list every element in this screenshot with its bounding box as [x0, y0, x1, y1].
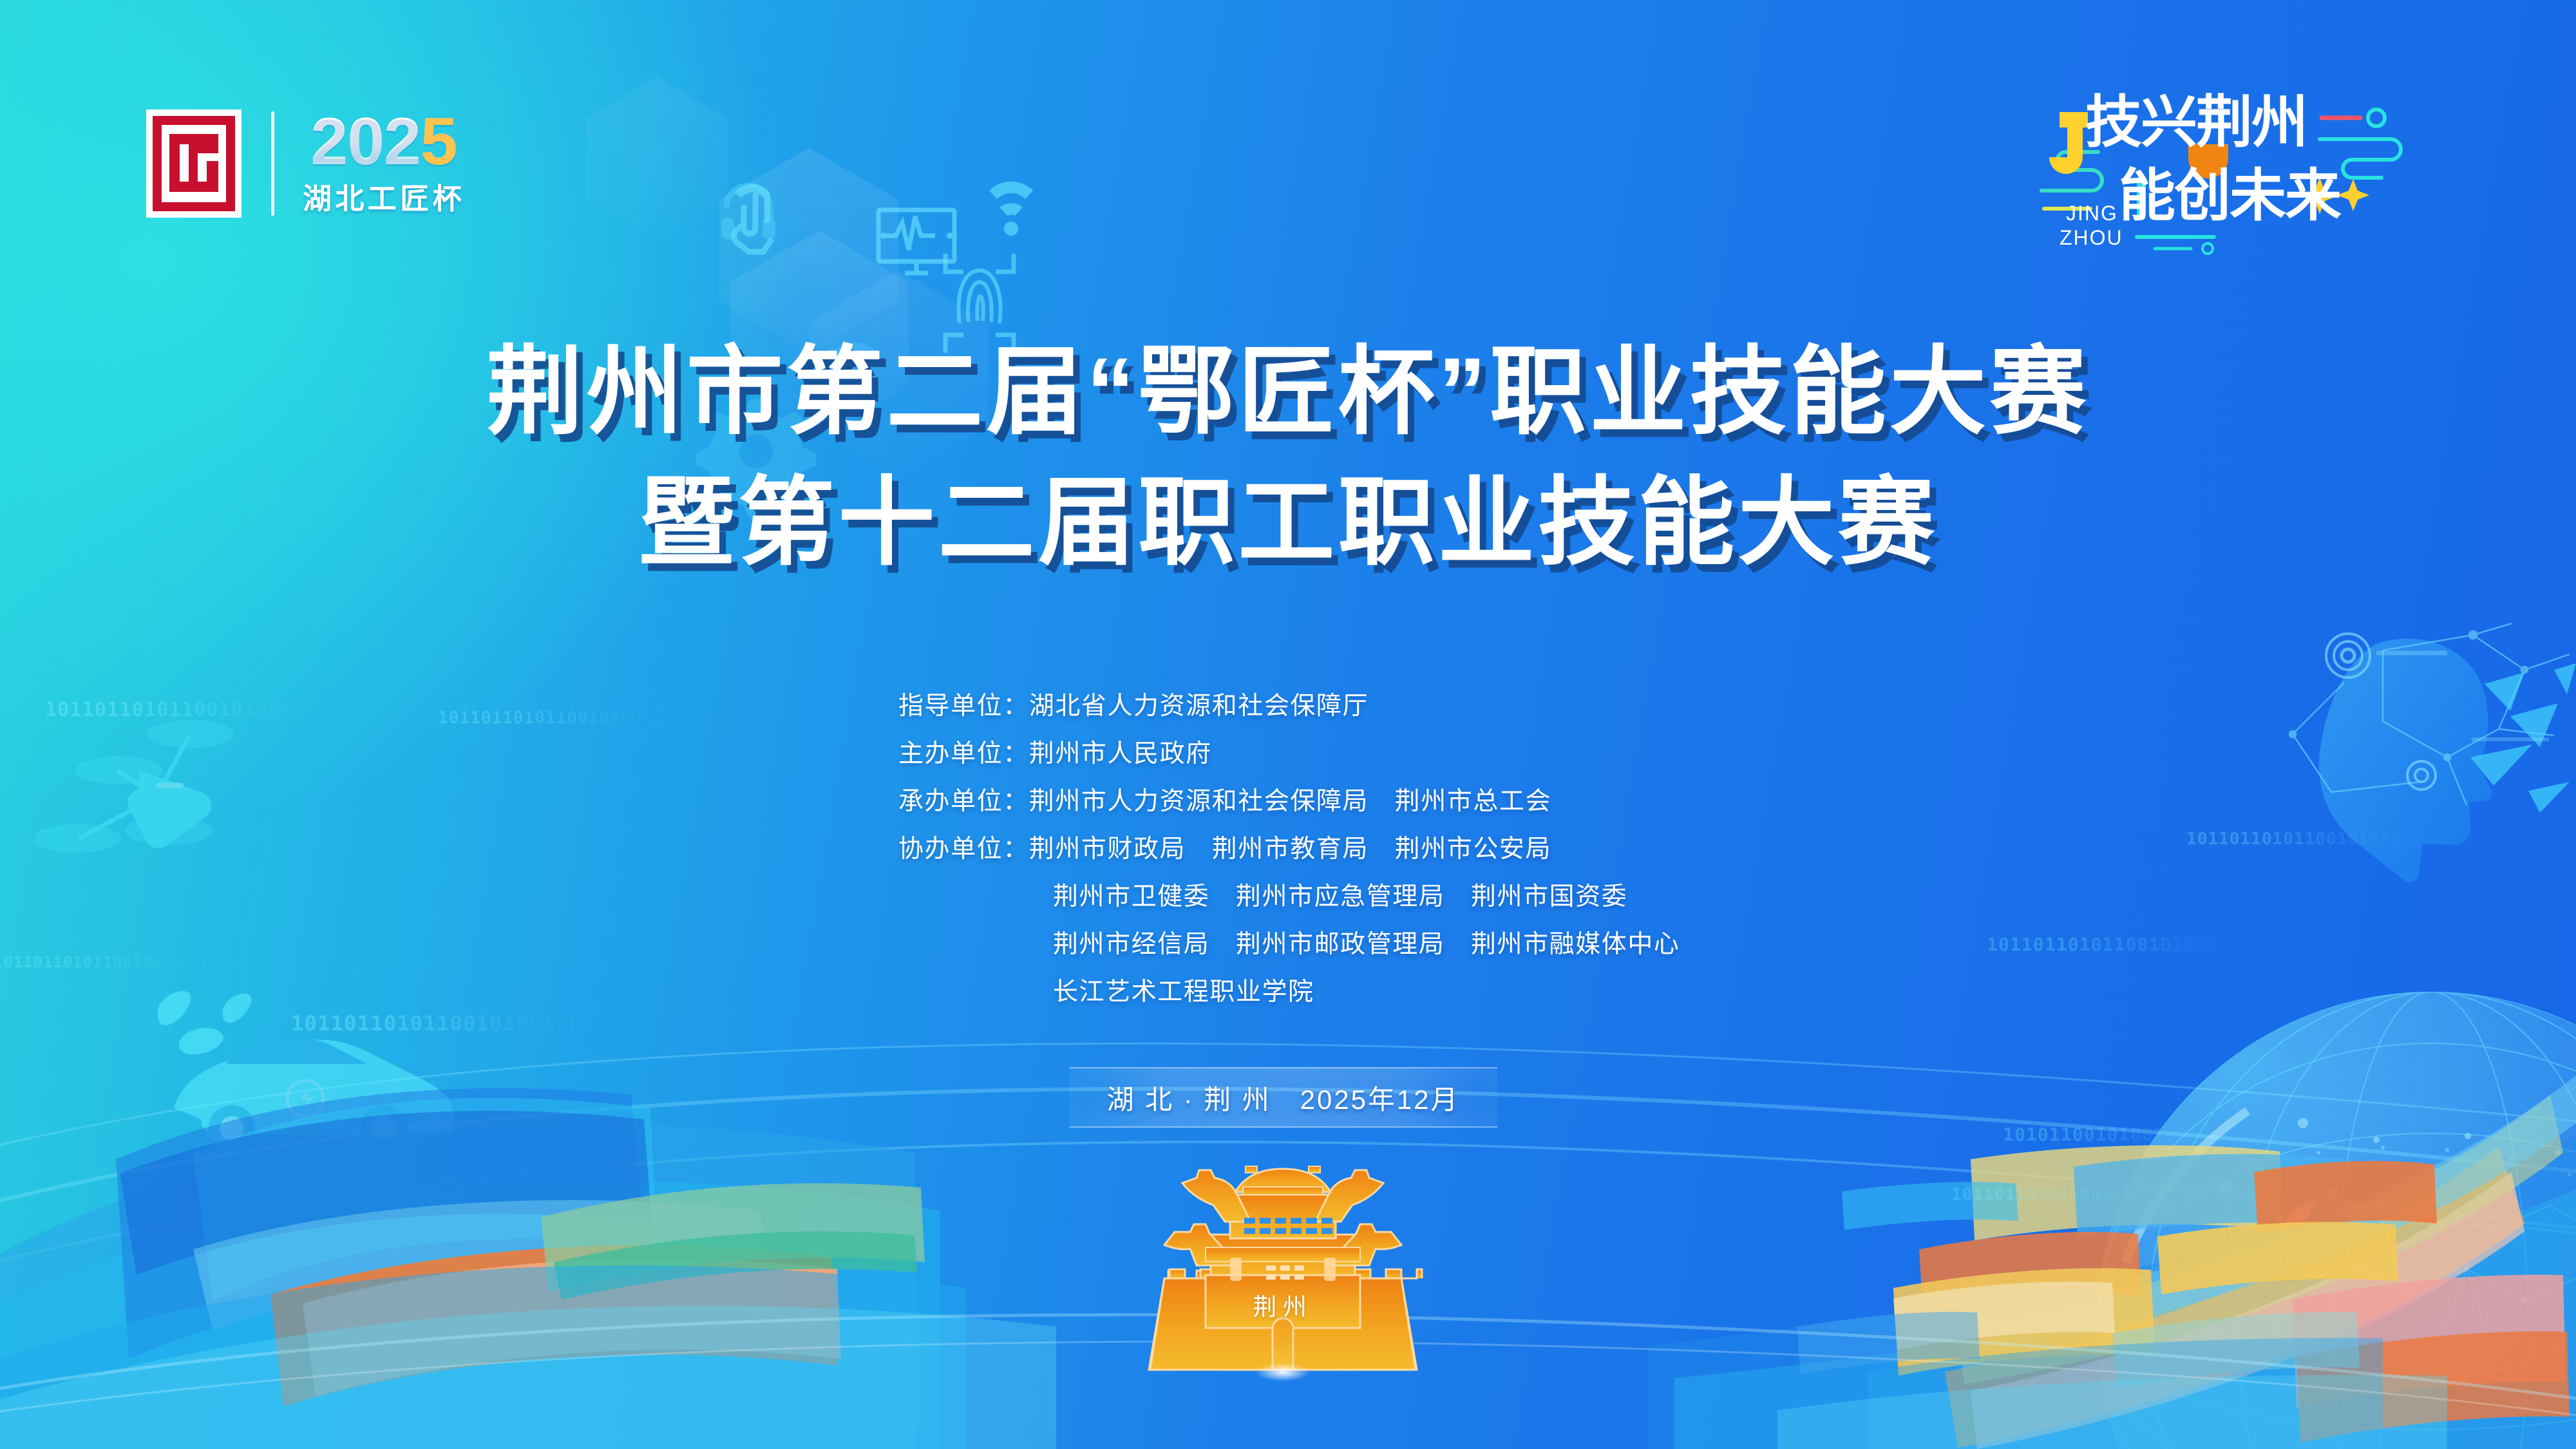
organizer-units: 荆州市人民政府: [1029, 740, 1212, 768]
tech-icon-touch-gesture: [734, 188, 772, 252]
title-block: 荆州市第二届“鄂匠杯”职业技能大赛 暨第十二届职工职业技能大赛: [0, 335, 2576, 580]
tech-icon-heartbeat-monitor: [878, 210, 954, 273]
slogan-logo-right: 技兴荆州 能创未来 JING ZHOU: [2029, 82, 2518, 256]
binary-text-3: 101101101011001010010001: [0, 953, 232, 971]
leaf-icon: [158, 991, 252, 1054]
slogan-line1: 技兴荆州: [2085, 90, 2307, 154]
organizer-row: 协办单位：荆州市财政局 荆州市教育局 荆州市公安局: [898, 826, 1864, 873]
jingzhou-city-gate-icon: [1122, 1130, 1444, 1388]
tech-icon-wifi: [989, 182, 1033, 236]
date-location-text: 湖 北 · 荆 州 2025年12月: [1107, 1078, 1460, 1117]
organizer-label: 协办单位：: [898, 835, 1029, 863]
date-location-banner: 湖 北 · 荆 州 2025年12月: [1069, 1067, 1497, 1128]
gate-city-label: 荆州: [1122, 1287, 1444, 1322]
organizer-label: 指导单位：: [898, 692, 1029, 720]
organizer-row: 承办单位：荆州市人力资源和社会保障局 荆州市总工会: [898, 778, 1864, 826]
organizer-units: 荆州市经信局 荆州市邮政管理局 荆州市融媒体中心: [1053, 931, 1680, 958]
poster-canvas: 10110110101100101001000 1011011010110010…: [0, 0, 2576, 1449]
organizer-row: 长江艺术工程职业学院: [898, 969, 1864, 1016]
binary-text-7: 101011001010010000: [2003, 1124, 2211, 1145]
organizer-row: 荆州市卫健委 荆州市应急管理局 荆州市国资委: [898, 873, 1864, 921]
organizer-units: 荆州市卫健委 荆州市应急管理局 荆州市国资委: [1053, 883, 1627, 911]
organizer-units: 长江艺术工程职业学院: [1053, 978, 1314, 1006]
logo-year: 2025: [310, 110, 457, 174]
logo-wordmark: 2025 湖北工匠杯: [303, 110, 465, 217]
slogan-line2: 能创未来: [2119, 164, 2342, 227]
particle-dots: [2222, 1118, 2561, 1189]
slogan-pinyin-line1: JING: [2066, 202, 2118, 225]
logo-divider: [271, 111, 274, 216]
organizer-units: 湖北省人力资源和社会保障厅: [1029, 692, 1368, 720]
organizer-row: 主办单位：荆州市人民政府: [898, 730, 1864, 778]
binary-text-4: 10110110101100101001000: [291, 1011, 596, 1036]
organizer-units: 荆州市人力资源和社会保障局 荆州市总工会: [1029, 788, 1551, 815]
binary-text-1: 10110110101100101001000: [45, 699, 330, 721]
binary-text-2: 1011011010110010100100: [438, 708, 674, 728]
organizer-label: 主办单位：: [898, 740, 1029, 768]
organizer-units: 荆州市财政局 荆州市教育局 荆州市公安局: [1029, 835, 1551, 863]
electric-car-icon: [174, 1038, 455, 1151]
logo-cup-name: 湖北工匠杯: [303, 175, 465, 217]
event-logo-left: 2025 湖北工匠杯: [145, 108, 465, 219]
title-line-1: 荆州市第二届“鄂匠杯”职业技能大赛: [0, 335, 2576, 449]
binary-text-5: 1011011010110010100100: [2186, 829, 2423, 849]
title-line-2: 暨第十二届职工职业技能大赛: [0, 466, 2576, 580]
binary-text-6: 10110110101100101001000: [1987, 934, 2253, 955]
organizer-row: 荆州市经信局 荆州市邮政管理局 荆州市融媒体中心: [898, 921, 1864, 969]
bottom-ribbons-left: [0, 1088, 1056, 1449]
tech-icon-headset: [721, 185, 775, 240]
binary-text-8: 1011011010110010100100: [1951, 1185, 2188, 1204]
slogan-pinyin-line2: ZHOU: [2060, 226, 2123, 249]
organizer-row: 指导单位：湖北省人力资源和社会保障厅: [898, 683, 1864, 730]
hubei-craftsman-seal-icon: [145, 108, 243, 219]
drone-icon: [33, 720, 234, 853]
organizer-list: 指导单位：湖北省人力资源和社会保障厅 主办单位：荆州市人民政府 承办单位：荆州市…: [898, 683, 1864, 1016]
organizer-label: 承办单位：: [898, 788, 1029, 815]
wireframe-globe-icon: [2096, 992, 2576, 1449]
